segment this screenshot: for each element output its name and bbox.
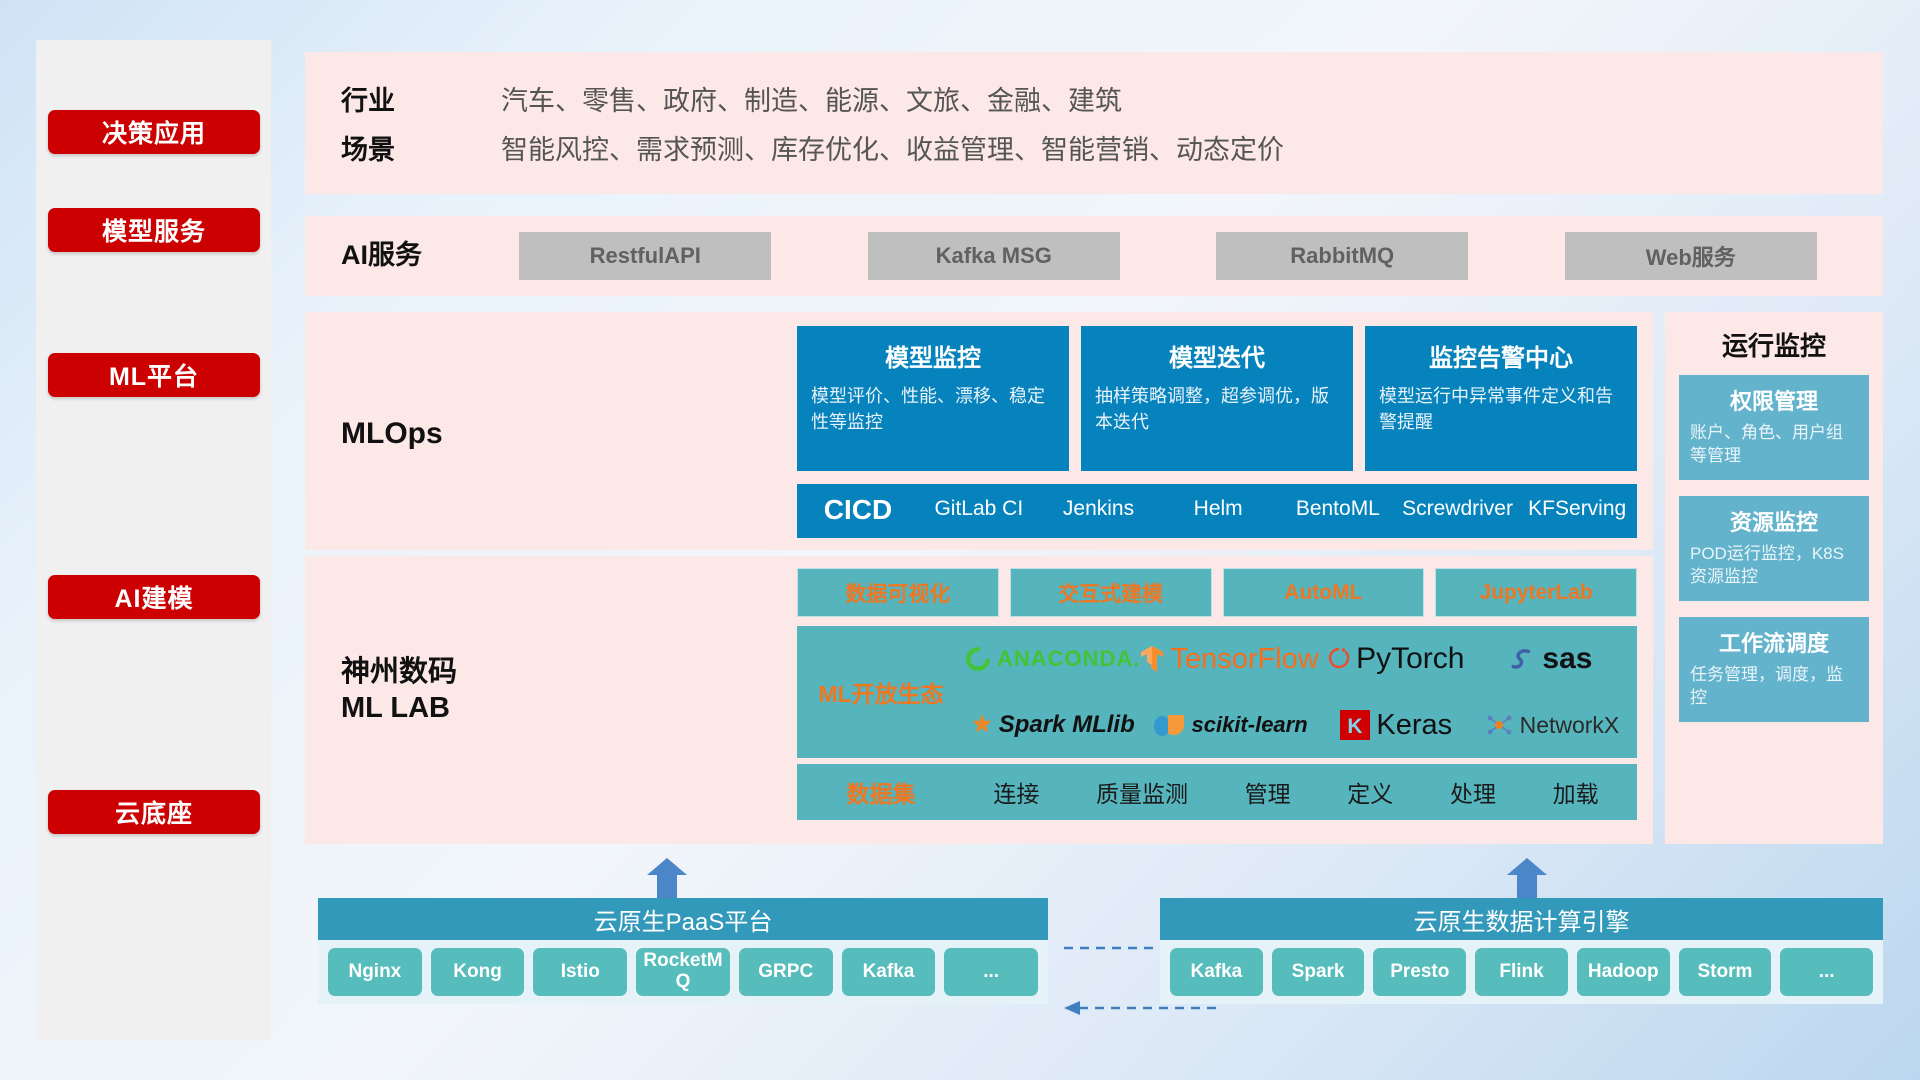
ml-lab-label-line1: 神州数码 <box>341 654 511 690</box>
engine-chip-more[interactable]: ... <box>1780 948 1873 996</box>
monitor-card-title: 资源监控 <box>1690 505 1858 537</box>
mlops-card-title: 监控告警中心 <box>1379 338 1623 373</box>
paas-chip-nginx[interactable]: Nginx <box>328 948 422 996</box>
rail-item-decision-app[interactable]: 决策应用 <box>48 110 260 154</box>
ml-lab-tool-jupyterlab[interactable]: JupyterLab <box>1435 568 1637 617</box>
networkx-logo-text: NetworkX <box>1520 712 1620 739</box>
data-engine-up-arrow-icon <box>1505 858 1549 898</box>
engine-chip-spark[interactable]: Spark <box>1272 948 1365 996</box>
cloud-native-paas-chip-list: Nginx Kong Istio RocketMQ GRPC Kafka ... <box>318 940 1048 1004</box>
monitor-card-title: 工作流调度 <box>1690 626 1858 658</box>
rail-item-cloud-base[interactable]: 云底座 <box>48 790 260 834</box>
ml-lab-tool-data-visualization[interactable]: 数据可视化 <box>797 568 999 617</box>
architecture-diagram: 决策应用 模型服务 ML平台 AI建模 云底座 行业 汽车、零售、政府、制造、能… <box>0 0 1920 1080</box>
monitor-card-resource[interactable]: 资源监控 POD运行监控，K8S资源监控 <box>1679 496 1869 601</box>
mlops-card-desc: 模型运行中异常事件定义和告警提醒 <box>1379 383 1623 435</box>
cicd-bar: CICD GitLab CI Jenkins Helm BentoML Scre… <box>797 484 1637 538</box>
engine-chip-storm[interactable]: Storm <box>1679 948 1772 996</box>
cicd-item-bentoml[interactable]: BentoML <box>1278 484 1398 522</box>
tensorflow-logo-text: TensorFlow <box>1170 643 1318 676</box>
ml-lab-label: 神州数码 ML LAB <box>341 654 511 727</box>
mlops-card-desc: 抽样策略调整，超参调优，版本迭代 <box>1095 383 1339 435</box>
mlops-card-list: 模型监控 模型评价、性能、漂移、稳定性等监控 模型迭代 抽样策略调整，超参调优，… <box>797 326 1637 471</box>
dataset-item-process[interactable]: 处理 <box>1450 775 1496 809</box>
ai-service-panel: AI服务 RestfulAPI Kafka MSG RabbitMQ Web服务 <box>305 216 1883 296</box>
dataset-label: 数据集 <box>797 775 965 809</box>
paas-chip-grpc[interactable]: GRPC <box>739 948 833 996</box>
spark-icon <box>971 713 993 737</box>
ai-service-box-restfulapi[interactable]: RestfulAPI <box>519 232 771 280</box>
cicd-title: CICD <box>797 484 919 526</box>
sas-logo-text: sas <box>1542 642 1592 676</box>
scikit-learn-logo-text: scikit-learn <box>1192 712 1308 738</box>
monitor-card-desc: 账户、角色、用户组等管理 <box>1690 421 1858 468</box>
keras-logo-text: Keras <box>1376 709 1452 742</box>
scenario-value: 智能风控、需求预测、库存优化、收益管理、智能营销、动态定价 <box>501 128 1883 167</box>
paas-chip-rocketmq[interactable]: RocketMQ <box>636 948 730 996</box>
engine-chip-kafka[interactable]: Kafka <box>1170 948 1263 996</box>
rail-item-model-service[interactable]: 模型服务 <box>48 208 260 252</box>
monitor-card-permission[interactable]: 权限管理 账户、角色、用户组等管理 <box>1679 375 1869 480</box>
cloud-native-paas-title: 云原生PaaS平台 <box>318 898 1048 940</box>
mlops-card-desc: 模型评价、性能、漂移、稳定性等监控 <box>811 383 1055 435</box>
sas-logo: sas <box>1510 642 1592 676</box>
mlops-label: MLOps <box>341 415 491 453</box>
mlops-card-alert-center[interactable]: 监控告警中心 模型运行中异常事件定义和告警提醒 <box>1365 326 1637 471</box>
layer-rail: 决策应用 模型服务 ML平台 AI建模 云底座 <box>36 40 271 1040</box>
engine-chip-hadoop[interactable]: Hadoop <box>1577 948 1670 996</box>
ml-lab-panel: 神州数码 ML LAB 数据可视化 交互式建模 AutoML JupyterLa… <box>305 556 1653 844</box>
paas-chip-istio[interactable]: Istio <box>533 948 627 996</box>
dataset-item-list: 连接 质量监测 管理 定义 处理 加载 <box>965 775 1637 809</box>
ml-open-ecosystem-label: ML开放生态 <box>797 675 965 709</box>
cicd-item-gitlab-ci[interactable]: GitLab CI <box>919 484 1039 522</box>
ai-service-box-kafka-msg[interactable]: Kafka MSG <box>868 232 1120 280</box>
rail-item-ai-modeling[interactable]: AI建模 <box>48 575 260 619</box>
paas-chip-kong[interactable]: Kong <box>431 948 525 996</box>
mlops-card-model-monitor[interactable]: 模型监控 模型评价、性能、漂移、稳定性等监控 <box>797 326 1069 471</box>
tensorflow-icon <box>1140 645 1164 673</box>
svg-text:K: K <box>1348 715 1363 738</box>
scikit-learn-logo: scikit-learn <box>1152 712 1308 738</box>
ai-service-label: AI服务 <box>341 239 471 273</box>
dataset-item-define[interactable]: 定义 <box>1347 775 1393 809</box>
ml-lab-tool-automl[interactable]: AutoML <box>1223 568 1425 617</box>
cloud-native-data-engine-group: 云原生数据计算引擎 Kafka Spark Presto Flink Hadoo… <box>1160 898 1883 1004</box>
scikit-learn-icon <box>1152 712 1186 738</box>
paas-chip-more[interactable]: ... <box>944 948 1038 996</box>
ai-service-box-rabbitmq[interactable]: RabbitMQ <box>1216 232 1468 280</box>
pytorch-icon <box>1328 645 1350 673</box>
paas-chip-kafka[interactable]: Kafka <box>842 948 936 996</box>
decision-app-panel: 行业 汽车、零售、政府、制造、能源、文旅、金融、建筑 场景 智能风控、需求预测、… <box>305 52 1883 194</box>
engine-chip-presto[interactable]: Presto <box>1373 948 1466 996</box>
ml-lab-tool-interactive-modeling[interactable]: 交互式建模 <box>1010 568 1212 617</box>
monitor-card-workflow[interactable]: 工作流调度 任务管理，调度，监控 <box>1679 617 1869 722</box>
engine-chip-flink[interactable]: Flink <box>1475 948 1568 996</box>
dataset-item-manage[interactable]: 管理 <box>1245 775 1291 809</box>
cloud-native-data-engine-title: 云原生数据计算引擎 <box>1160 898 1883 940</box>
pytorch-logo-text: PyTorch <box>1356 642 1464 676</box>
anaconda-logo-text: ANACONDA. <box>997 646 1140 672</box>
ml-lab-tool-list: 数据可视化 交互式建模 AutoML JupyterLab <box>797 568 1637 617</box>
industry-value: 汽车、零售、政府、制造、能源、文旅、金融、建筑 <box>501 79 1883 118</box>
cicd-item-helm[interactable]: Helm <box>1158 484 1278 522</box>
anaconda-logo: ANACONDA. <box>965 646 1140 672</box>
mlops-card-model-iteration[interactable]: 模型迭代 抽样策略调整，超参调优，版本迭代 <box>1081 326 1353 471</box>
industry-label: 行业 <box>341 79 501 118</box>
runtime-monitor-title: 运行监控 <box>1665 312 1883 375</box>
paas-up-arrow-icon <box>645 858 689 898</box>
dataset-item-load[interactable]: 加载 <box>1553 775 1599 809</box>
tensorflow-logo: TensorFlow <box>1140 643 1318 676</box>
dataset-item-connect[interactable]: 连接 <box>993 775 1039 809</box>
mlops-panel: MLOps 模型监控 模型评价、性能、漂移、稳定性等监控 模型迭代 抽样策略调整… <box>305 312 1653 550</box>
cloud-native-data-engine-chip-list: Kafka Spark Presto Flink Hadoop Storm ..… <box>1160 940 1883 1004</box>
ai-service-box-web[interactable]: Web服务 <box>1565 232 1817 280</box>
networkx-logo: NetworkX <box>1484 712 1620 739</box>
scenario-label: 场景 <box>341 128 501 167</box>
mlops-card-title: 模型监控 <box>811 338 1055 373</box>
ml-open-ecosystem-logos: ANACONDA. TensorFlow PyTorch <box>965 626 1637 758</box>
monitor-card-title: 权限管理 <box>1690 384 1858 416</box>
anaconda-icon <box>965 646 991 672</box>
ml-open-ecosystem: ML开放生态 ANACONDA. TensorFlow <box>797 626 1637 758</box>
dataset-row: 数据集 连接 质量监测 管理 定义 处理 加载 <box>797 764 1637 820</box>
runtime-monitor-panel: 运行监控 权限管理 账户、角色、用户组等管理 资源监控 POD运行监控，K8S资… <box>1665 312 1883 844</box>
cloud-native-paas-group: 云原生PaaS平台 Nginx Kong Istio RocketMQ GRPC… <box>318 898 1048 1004</box>
sas-icon <box>1510 646 1536 672</box>
dataset-item-quality[interactable]: 质量监测 <box>1096 775 1188 809</box>
monitor-card-desc: POD运行监控，K8S资源监控 <box>1690 542 1858 589</box>
monitor-card-desc: 任务管理，调度，监控 <box>1690 663 1858 710</box>
cicd-item-jenkins[interactable]: Jenkins <box>1039 484 1159 522</box>
cicd-item-kfserving[interactable]: KFServing <box>1517 484 1637 522</box>
ai-service-box-list: RestfulAPI Kafka MSG RabbitMQ Web服务 <box>471 232 1883 280</box>
keras-logo: K Keras <box>1340 709 1452 742</box>
spark-mllib-logo: Spark MLlib <box>971 711 1135 739</box>
networkx-icon <box>1484 712 1514 738</box>
cicd-item-screwdriver[interactable]: Screwdriver <box>1398 484 1518 522</box>
keras-icon: K <box>1340 710 1370 740</box>
rail-item-ml-platform[interactable]: ML平台 <box>48 353 260 397</box>
mlops-card-title: 模型迭代 <box>1095 338 1339 373</box>
spark-mllib-logo-text: Spark MLlib <box>999 711 1135 739</box>
ml-lab-label-line2: ML LAB <box>341 690 511 726</box>
pytorch-logo: PyTorch <box>1328 642 1464 676</box>
